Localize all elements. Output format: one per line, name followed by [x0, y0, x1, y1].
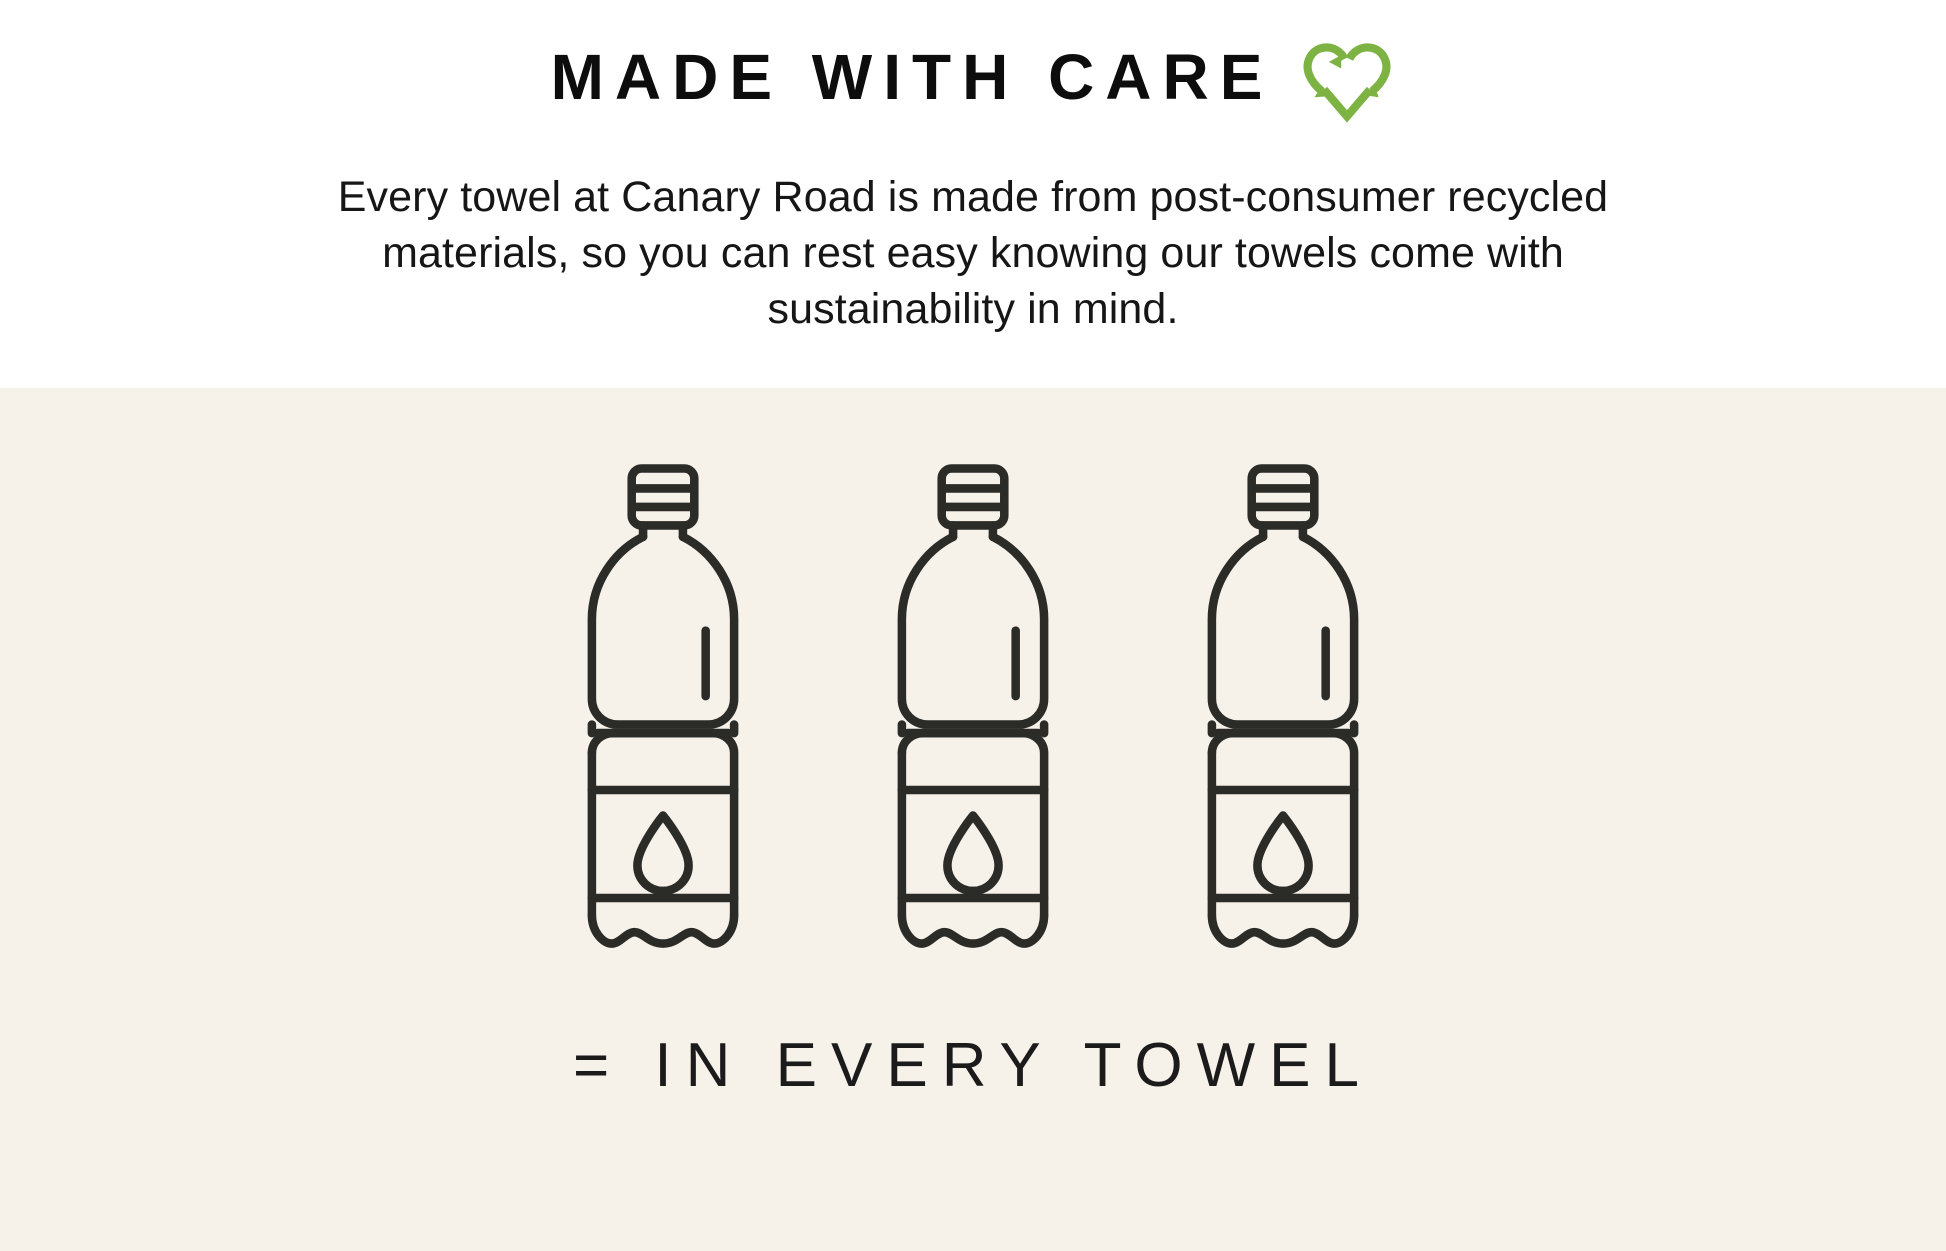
water-bottle-icon	[1197, 460, 1369, 972]
header-section: MADE WITH CARE	[0, 0, 1946, 388]
water-bottle-icon	[887, 460, 1059, 972]
page-title: MADE WITH CARE	[551, 45, 1274, 109]
made-with-care-banner: MADE WITH CARE	[0, 0, 1946, 1251]
description-paragraph: Every towel at Canary Road is made from …	[93, 170, 1853, 338]
water-bottle-icon	[577, 460, 749, 972]
water-droplet-icon	[947, 816, 998, 891]
recycle-heart-icon	[1299, 36, 1395, 124]
heading-row: MADE WITH CARE	[551, 30, 1396, 124]
bottles-row	[577, 460, 1369, 972]
water-droplet-icon	[1257, 816, 1308, 891]
illustration-caption: = IN EVERY TOWEL	[573, 1030, 1373, 1101]
water-droplet-icon	[637, 816, 688, 891]
illustration-section: = IN EVERY TOWEL	[0, 388, 1946, 1251]
